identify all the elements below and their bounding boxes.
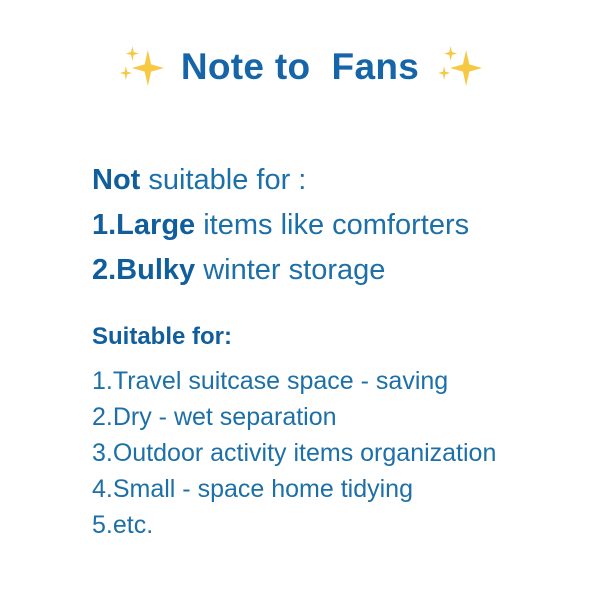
not-suitable-item-emphasis: 1.Large — [92, 209, 195, 241]
page-title-row: Note to Fans — [0, 42, 600, 90]
not-suitable-item-rest: winter storage — [195, 254, 385, 286]
suitable-heading: Suitable for: — [92, 322, 496, 352]
sparkle-star-large — [450, 50, 482, 86]
suitable-item: 3.Outdoor activity items organization — [92, 435, 496, 471]
sparkle-star-small — [120, 66, 132, 80]
note-to-fans-card: Note to Fans Not suitable for : 1.Large … — [0, 0, 600, 600]
sparkles-icon-left — [118, 42, 164, 90]
sparkle-star-medium — [444, 46, 457, 61]
not-suitable-item: 1.Large items like comforters — [92, 203, 469, 248]
not-suitable-heading-emphasis: Not — [92, 164, 140, 196]
not-suitable-item-rest: items like comforters — [195, 209, 469, 241]
suitable-section: Suitable for: 1.Travel suitcase space - … — [92, 322, 496, 543]
suitable-item: 1.Travel suitcase space - saving — [92, 363, 496, 399]
page-title: Note to Fans — [181, 48, 419, 85]
sparkle-star-small — [438, 66, 450, 80]
not-suitable-item-emphasis: 2.Bulky — [92, 254, 195, 286]
suitable-item: 5.etc. — [92, 507, 496, 543]
suitable-item: 4.Small - space home tidying — [92, 471, 496, 507]
not-suitable-heading: Not suitable for : — [92, 158, 469, 203]
not-suitable-heading-rest: suitable for : — [140, 164, 306, 196]
not-suitable-item: 2.Bulky winter storage — [92, 248, 469, 293]
sparkles-icon-right — [436, 42, 482, 90]
sparkle-star-medium — [126, 46, 139, 61]
sparkle-star-large — [132, 50, 164, 86]
not-suitable-section: Not suitable for : 1.Large items like co… — [92, 158, 469, 293]
suitable-item: 2.Dry - wet separation — [92, 399, 496, 435]
